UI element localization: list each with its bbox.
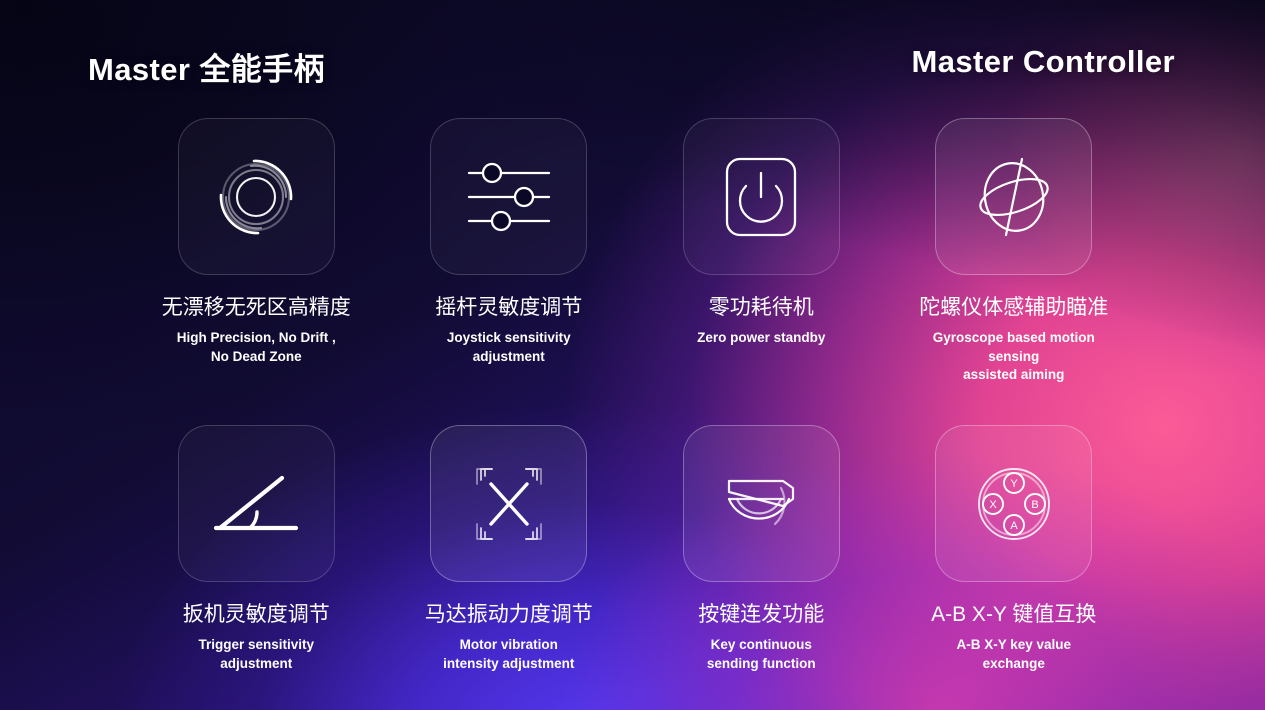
feature-title-cn: A-B X-Y 键值互换 (931, 603, 1096, 627)
feature-icon-tile: Y X B A (935, 425, 1092, 582)
feature-grid: 无漂移无死区高精度 High Precision, No Drift , No … (130, 118, 1140, 673)
feature-icon-tile (683, 425, 840, 582)
page-title-cn: Master 全能手柄 (88, 44, 325, 89)
feature-title-en: Zero power standby (697, 329, 825, 348)
feature-card-high-precision: 无漂移无死区高精度 High Precision, No Drift , No … (130, 118, 383, 385)
feature-icon-tile (683, 118, 840, 275)
feature-poster: Master 全能手柄 Master Controller 无漂 (0, 0, 1265, 710)
feature-icon-tile (178, 425, 335, 582)
feature-card-gyroscope-aiming: 陀螺仪体感辅助瞄准 Gyroscope based motion sensing… (888, 118, 1141, 385)
angle-trigger-icon (208, 456, 304, 552)
feature-card-joystick-sensitivity: 摇杆灵敏度调节 Joystick sensitivity adjustment (383, 118, 636, 385)
feature-card-trigger-sensitivity: 扳机灵敏度调节 Trigger sensitivity adjustment (130, 425, 383, 673)
feature-title-cn: 无漂移无死区高精度 (162, 296, 351, 320)
abxy-label-y: Y (1010, 478, 1018, 490)
vibration-x-icon (459, 454, 559, 554)
feature-card-key-continuous-sending: 按键连发功能 Key continuous sending function (635, 425, 888, 673)
feature-title-en: High Precision, No Drift , No Dead Zone (177, 329, 336, 366)
feature-icon-tile (178, 118, 335, 275)
abxy-label-a: A (1010, 520, 1018, 532)
feature-card-abxy-exchange: Y X B A A-B X-Y 键值互换 A-B X-Y key value e… (888, 425, 1141, 673)
key-press-icon (711, 454, 811, 554)
abxy-buttons-icon: Y X B A (964, 454, 1064, 554)
feature-title-en: Key continuous sending function (707, 636, 816, 673)
gyroscope-icon (964, 147, 1064, 247)
feature-title-en: Gyroscope based motion sensing assisted … (906, 329, 1121, 385)
feature-title-cn: 零功耗待机 (709, 296, 814, 320)
feature-title-en: Trigger sensitivity adjustment (198, 636, 314, 673)
power-standby-icon (713, 149, 809, 245)
feature-title-cn: 按键连发功能 (698, 603, 824, 627)
abxy-label-x: X (989, 499, 997, 511)
feature-card-motor-vibration: 马达振动力度调节 Motor vibration intensity adjus… (383, 425, 636, 673)
feature-title-en: Motor vibration intensity adjustment (443, 636, 574, 673)
feature-title-cn: 马达振动力度调节 (425, 603, 593, 627)
page-title-en: Master Controller (912, 44, 1175, 80)
feature-title-en: Joystick sensitivity adjustment (447, 329, 571, 366)
feature-icon-tile (935, 118, 1092, 275)
feature-title-en: A-B X-Y key value exchange (956, 636, 1071, 673)
feature-card-zero-power-standby: 零功耗待机 Zero power standby (635, 118, 888, 385)
concentric-precision-icon (208, 149, 304, 245)
feature-title-cn: 扳机灵敏度调节 (183, 603, 330, 627)
abxy-label-b: B (1031, 499, 1038, 511)
sliders-icon (461, 149, 557, 245)
feature-icon-tile (430, 118, 587, 275)
feature-title-cn: 陀螺仪体感辅助瞄准 (919, 296, 1108, 320)
feature-title-cn: 摇杆灵敏度调节 (435, 296, 582, 320)
feature-icon-tile (430, 425, 587, 582)
